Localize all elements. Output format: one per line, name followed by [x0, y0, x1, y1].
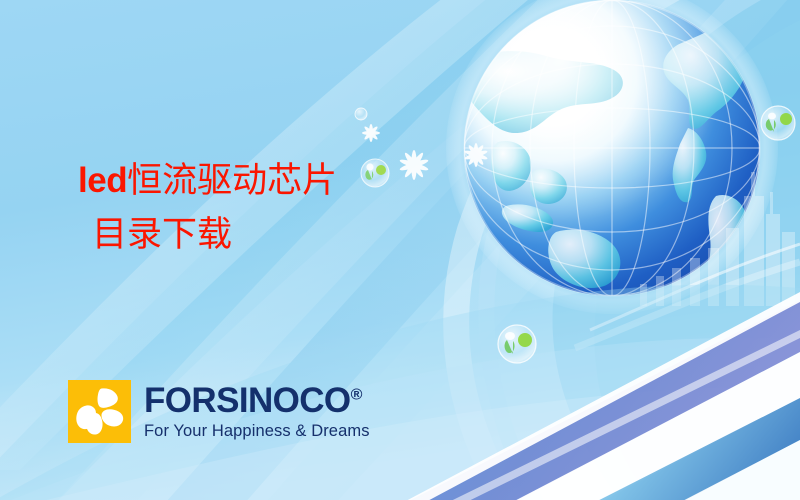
bubble-with-sprout-right — [761, 106, 795, 140]
city-skyline-silhouette — [640, 172, 795, 306]
diagonal-bands — [370, 292, 800, 500]
headline-line-2: 目录下载 — [92, 216, 418, 254]
bubble-small — [355, 108, 367, 120]
earth-globe — [446, 0, 800, 314]
brand-name-text: FORSINOCO — [144, 381, 351, 420]
registered-trademark-icon: ® — [351, 387, 362, 404]
brand-logo: FORSINOCO® For Your Happiness & Dreams — [68, 380, 370, 443]
logo-text-group: FORSINOCO® For Your Happiness & Dreams — [144, 383, 370, 440]
brand-tagline: For Your Happiness & Dreams — [144, 423, 370, 440]
headline-latin-led: led — [78, 161, 127, 200]
logo-mark-icon — [68, 380, 131, 443]
banner-root: led恒流驱动芯片 目录下载 FORSINOCO® For Your Happi… — [0, 0, 800, 500]
headline-cjk-primary: 恒流驱动芯片 — [127, 161, 337, 200]
swoosh-arcs-right — [456, 0, 800, 500]
pinwheel-petals — [76, 388, 123, 434]
flower-sparkle-small — [362, 124, 380, 142]
brand-name: FORSINOCO® — [144, 383, 370, 418]
flower-sparkle-wide — [464, 143, 488, 167]
headline-block: led恒流驱动芯片 目录下载 — [78, 162, 418, 254]
globe-grid — [464, 0, 760, 296]
bubble-with-sprout-lower — [498, 325, 536, 363]
globe-continents — [459, 0, 800, 300]
headline-line-1: led恒流驱动芯片 — [78, 162, 418, 200]
